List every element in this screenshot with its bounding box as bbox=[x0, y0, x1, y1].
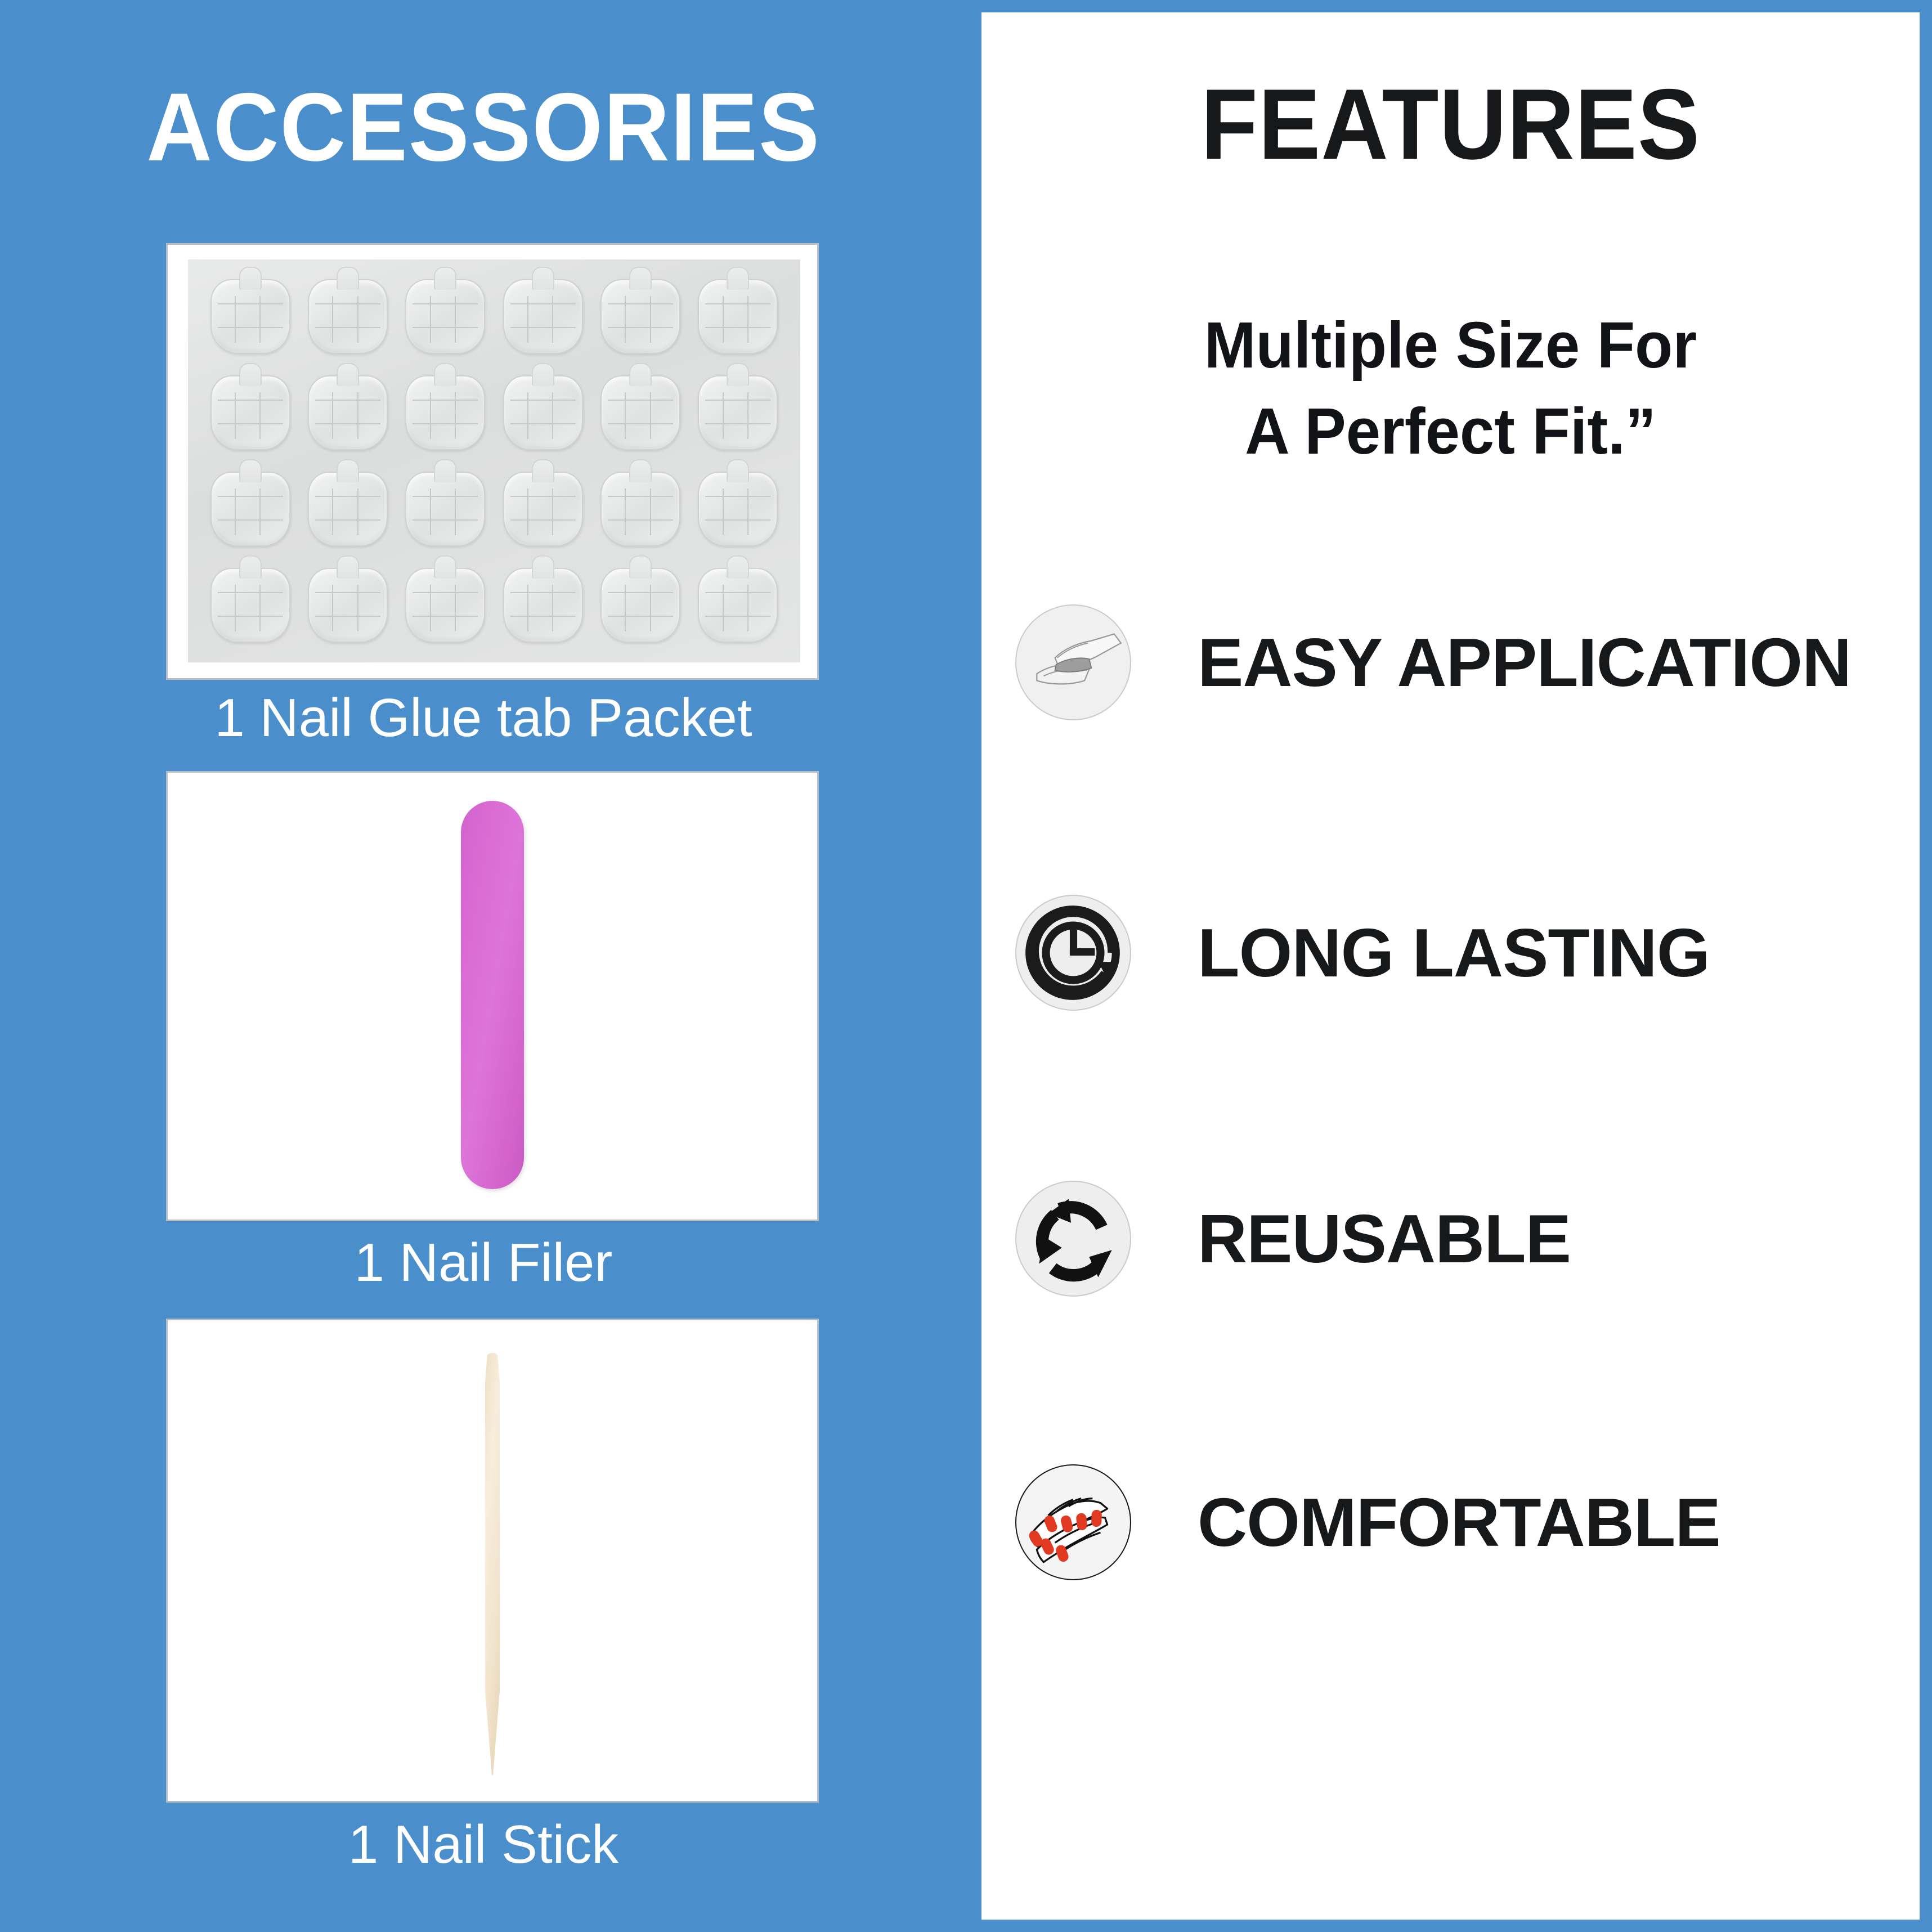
accessories-panel: ACCESSORIES bbox=[0, 0, 967, 1932]
glue-tab-grid bbox=[203, 270, 786, 652]
glue-tab bbox=[405, 568, 485, 643]
glue-tab bbox=[503, 568, 583, 643]
feature-row-long-lasting: LONG LASTING bbox=[1015, 888, 1916, 1017]
accessories-title: ACCESSORIES bbox=[29, 79, 938, 176]
features-tagline: Multiple Size For A Perfect Fit.” bbox=[1005, 302, 1897, 474]
glue-tab bbox=[503, 279, 583, 355]
glue-tab bbox=[308, 568, 388, 643]
glue-tab bbox=[698, 279, 778, 355]
glue-tab bbox=[308, 279, 388, 355]
glue-tab bbox=[210, 279, 290, 355]
glue-tab bbox=[308, 375, 388, 451]
glue-tab bbox=[210, 375, 290, 451]
glue-tab-sheet bbox=[188, 259, 800, 662]
tagline-line-1: Multiple Size For bbox=[1005, 302, 1897, 388]
glue-tab bbox=[503, 375, 583, 451]
accessory-caption-glue-tabs: 1 Nail Glue tab Packet bbox=[0, 691, 967, 745]
features-panel: FEATURES Multiple Size For A Perfect Fit… bbox=[981, 12, 1920, 1920]
tagline-line-2: A Perfect Fit.” bbox=[1005, 388, 1897, 474]
glue-tab bbox=[405, 375, 485, 451]
feature-label-comfortable: COMFORTABLE bbox=[1198, 1488, 1916, 1557]
glue-tab bbox=[405, 279, 485, 355]
feature-row-reusable: REUSABLE bbox=[1015, 1174, 1916, 1303]
nail-stick-shape bbox=[485, 1353, 500, 1775]
pink-nail-file-photo bbox=[168, 773, 817, 1220]
glue-tab bbox=[503, 472, 583, 547]
glue-tab bbox=[210, 472, 290, 547]
features-title: FEATURES bbox=[1014, 74, 1886, 174]
accessory-card-nail-filer bbox=[166, 771, 819, 1221]
feature-label-long-lasting: LONG LASTING bbox=[1198, 918, 1916, 987]
finger-applying-nail-tip-icon bbox=[1015, 604, 1131, 720]
glue-tab bbox=[698, 472, 778, 547]
feature-row-comfortable: COMFORTABLE bbox=[1015, 1458, 1916, 1587]
nail-glue-tab-sheet-photo bbox=[168, 245, 817, 678]
glue-tab bbox=[698, 375, 778, 451]
glue-tab bbox=[698, 568, 778, 643]
glue-tab bbox=[600, 472, 680, 547]
feature-label-reusable: REUSABLE bbox=[1198, 1204, 1916, 1273]
glue-tab bbox=[405, 472, 485, 547]
clock-with-rotation-arrow-icon bbox=[1015, 895, 1131, 1011]
glue-tab bbox=[600, 375, 680, 451]
glue-tab bbox=[308, 472, 388, 547]
manicured-hands-icon bbox=[1015, 1464, 1131, 1580]
infographic-page: ACCESSORIES bbox=[0, 0, 1932, 1932]
glue-tab bbox=[600, 568, 680, 643]
feature-label-easy-application: EASY APPLICATION bbox=[1198, 628, 1916, 697]
glue-tab bbox=[210, 568, 290, 643]
accessory-caption-nail-filer: 1 Nail Filer bbox=[0, 1236, 967, 1290]
accessory-caption-nail-stick: 1 Nail Stick bbox=[0, 1818, 967, 1872]
accessory-card-glue-tabs bbox=[166, 243, 819, 680]
feature-row-easy-application: EASY APPLICATION bbox=[1015, 598, 1916, 727]
wooden-cuticle-stick-photo bbox=[168, 1320, 817, 1801]
glue-tab bbox=[600, 279, 680, 355]
accessory-card-nail-stick bbox=[166, 1319, 819, 1803]
nail-file-shape bbox=[461, 801, 524, 1189]
three-arrow-recycle-icon bbox=[1015, 1181, 1131, 1297]
